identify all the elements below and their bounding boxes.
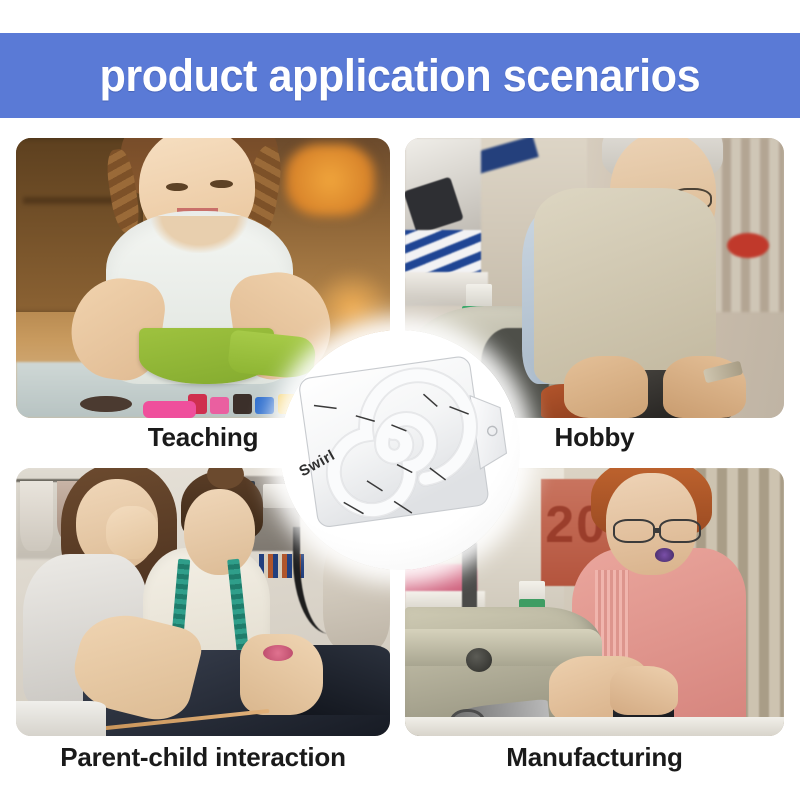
caption-teaching: Teaching: [16, 422, 390, 453]
woman2-head: [184, 489, 255, 575]
woman-glasses-lens-left: [613, 519, 655, 543]
machine-balance-wheel: [466, 648, 493, 672]
woman-glasses-lens-right: [659, 519, 701, 543]
caption-parent-child-interaction: Parent-child interaction: [16, 742, 390, 773]
man-beige-vest: [534, 188, 716, 384]
machine-post: [462, 543, 477, 613]
woman-earring: [655, 548, 674, 561]
caption-hobby: Hobby: [405, 422, 784, 453]
caption-manufacturing: Manufacturing: [405, 742, 784, 773]
fabric-pink-scrap: [143, 401, 195, 418]
thread-spool-dark: [233, 394, 252, 414]
page-title: product application scenarios: [100, 50, 701, 102]
thread-spool-pink: [210, 397, 229, 414]
work-table-edge: [16, 701, 106, 736]
product-infographic: product application scenarios: [0, 0, 800, 800]
woman-glasses-bridge: [654, 528, 662, 532]
woman-hand: [610, 666, 678, 714]
girl-neckline: [151, 216, 248, 252]
thread-spool-blue: [255, 397, 274, 414]
woman2-bracelet: [263, 645, 293, 661]
orange-bokeh-light: [285, 144, 375, 217]
man-hand-left: [564, 356, 647, 418]
header-banner: product application scenarios: [0, 33, 800, 118]
hanging-garment-white: [20, 481, 54, 551]
work-surface: [405, 717, 784, 736]
blue-striped-fabric: [405, 230, 481, 278]
woman1-face: [106, 506, 158, 560]
